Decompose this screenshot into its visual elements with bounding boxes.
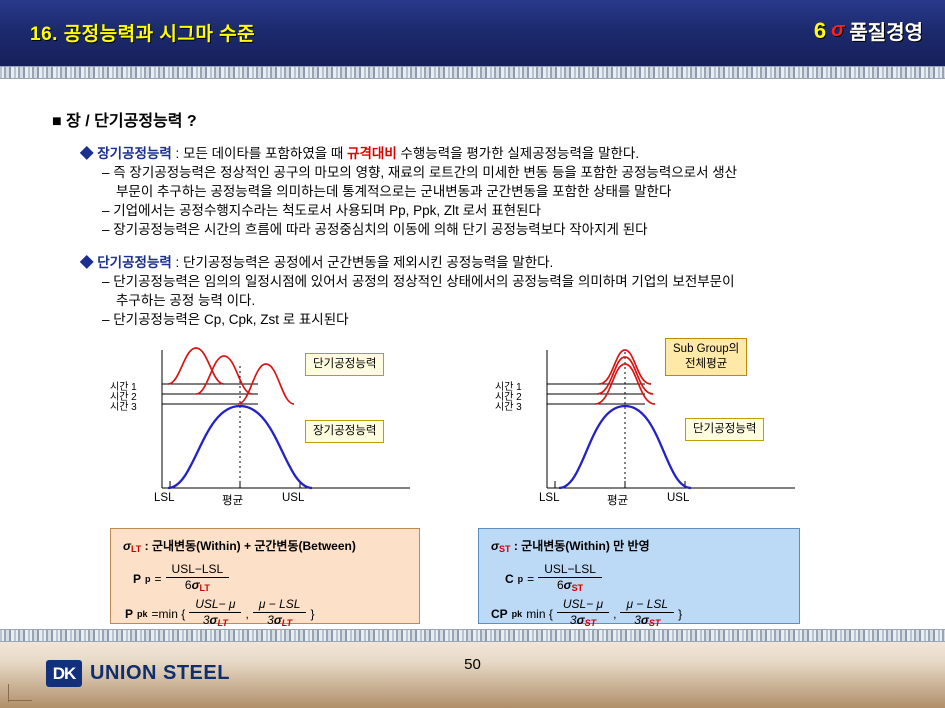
cp-fraction: USL−LSL 6σST (538, 562, 602, 596)
long-term-line-1: – 즉 장기공정능력은 정상적인 공구의 마모의 영향, 재료의 로트간의 미세… (102, 163, 737, 182)
cpk-min-open: min { (526, 607, 553, 621)
footer-rule-v (8, 684, 9, 702)
formula-ppk: Ppk =min { USL− μ 3σLT , μ − LSL 3σLT } (125, 597, 314, 631)
formula-box-short-term: σST : 군내변동(Within) 만 반영 Cp = USL−LSL 6σS… (478, 528, 800, 624)
formula-right-title: σST : 군내변동(Within) 만 반영 (491, 537, 650, 554)
ppk-den1-sigma-icon: σ (210, 613, 218, 627)
pp-numerator: USL−LSL (166, 562, 230, 578)
long-term-lead-b: 수행능력을 평가한 실제공정능력을 말한다. (397, 146, 639, 161)
short-term-line-3: – 단기공정능력은 Cp, Cpk, Zst 로 표시된다 (102, 310, 735, 329)
formula-pp: Pp = USL−LSL 6σLT (133, 562, 229, 596)
callout-subgroup-mean: Sub Group의 전체평균 (665, 338, 747, 376)
formula-cp: Cp = USL−LSL 6σST (505, 562, 602, 596)
page-number: 50 (0, 656, 945, 673)
ppk-den2-subscript: LT (282, 618, 292, 628)
cpk-den2-sigma-icon: σ (641, 613, 649, 627)
cp-numerator: USL−LSL (538, 562, 602, 578)
pp-equals: = (155, 572, 162, 586)
page-title: 16. 공정능력과 시그마 수준 (30, 19, 255, 46)
formula-cpk: CPpk min { USL− μ 3σST , μ − LSL 3σST } (491, 597, 682, 631)
cpk-den1-subscript: ST (585, 618, 597, 628)
sigma-lt-icon: σ (123, 539, 131, 553)
bullet-block-long-term: ◆ 장기공정능력 : 모든 데이타를 포함하였을 때 규격대비 수행능력을 평가… (80, 144, 737, 239)
cp-denominator: 6σST (538, 578, 602, 596)
cpk-comma: , (613, 607, 616, 621)
bullet-block-short-term: ◆ 단기공정능력 : 단기공정능력은 공정에서 군간변동을 제외시킨 공정능력을… (80, 253, 735, 329)
chart-right-mean: 평균 (607, 492, 628, 508)
cp-label: C (505, 572, 514, 586)
short-term-lead: : 단기공정능력은 공정에서 군간변동을 제외시킨 공정능력을 말한다. (172, 255, 554, 270)
cp-equals: = (527, 572, 534, 586)
ppk-den2-coef: 3 (267, 613, 274, 627)
cp-den-subscript: ST (572, 583, 584, 593)
pp-den-coef: 6 (185, 578, 192, 592)
sigma-lt-subscript: LT (131, 544, 141, 554)
sigma-st-icon: σ (491, 539, 499, 553)
long-term-line-3: – 기업에서는 공정수행지수라는 척도로서 사용되며 Pp, Ppk, Zlt … (102, 201, 737, 220)
bullet-marker-long-term: ◆ 장기공정능력 (80, 146, 172, 161)
ppk-min-open: =min { (152, 607, 186, 621)
cpk-label: CP (491, 607, 508, 621)
pp-subscript: p (145, 574, 151, 584)
chart-left-time-3: 시간 3 (110, 398, 137, 413)
ppk-den1-subscript: LT (218, 618, 228, 628)
formula-box-long-term: σLT : 군내변동(Within) + 군간변동(Between) Pp = … (110, 528, 420, 624)
cpk-fraction-2: μ − LSL 3σST (620, 597, 674, 631)
formula-left-title-text: : 군내변동(Within) + 군간변동(Between) (141, 539, 356, 553)
ppk-min-close: } (310, 607, 314, 621)
pp-denominator: 6σLT (166, 578, 230, 596)
ppk-label: P (125, 607, 133, 621)
bullet-marker-short-term: ◆ 단기공정능력 (80, 255, 172, 270)
sigma-icon: σ (831, 19, 844, 42)
ppk-comma: , (245, 607, 248, 621)
sigma-st-subscript: ST (499, 544, 511, 554)
pp-label: P (133, 572, 141, 586)
cpk-den1-coef: 3 (570, 613, 577, 627)
short-term-line-2: 추구하는 공정 능력 이다. (116, 291, 735, 310)
formula-right-title-text: : 군내변동(Within) 만 반영 (510, 539, 649, 553)
chart-left-curves (110, 340, 440, 510)
cpk-num-2: μ − LSL (620, 597, 674, 613)
footer-rule-h (8, 700, 32, 701)
cpk-subscript: pk (512, 609, 523, 619)
long-term-line-2: 부문이 추구하는 공정능력을 의미하는데 통계적으로는 군내변동과 군간변동을 … (116, 182, 737, 201)
cpk-den2-coef: 3 (634, 613, 641, 627)
pp-den-sigma-icon: σ (192, 578, 200, 592)
ppk-den1-coef: 3 (203, 613, 210, 627)
brand-six: 6 (814, 18, 826, 44)
callout-short-term-right: 단기공정능력 (685, 418, 764, 441)
chart-right-lsl: LSL (539, 492, 559, 504)
cpk-den1-sigma-icon: σ (577, 613, 585, 627)
divider-bottom (0, 629, 945, 642)
ppk-num-1: USL− μ (189, 597, 241, 613)
pp-den-subscript: LT (200, 583, 210, 593)
chart-left-lsl: LSL (154, 492, 174, 504)
brand-text: 품질경영 (849, 16, 923, 45)
cpk-fraction-1: USL− μ 3σST (557, 597, 609, 631)
chart-right-usl: USL (667, 492, 689, 504)
long-term-highlight: 규격대비 (347, 146, 397, 161)
chart-left-mean: 평균 (222, 492, 243, 508)
cpk-num-1: USL− μ (557, 597, 609, 613)
cpk-den2-subscript: ST (649, 618, 661, 628)
callout-subgroup-line1: Sub Group의 (673, 343, 739, 355)
pp-fraction: USL−LSL 6σLT (166, 562, 230, 596)
ppk-den2-sigma-icon: σ (274, 613, 282, 627)
chart-left-usl: USL (282, 492, 304, 504)
section-heading: ■ 장 / 단기공정능력 ? (52, 107, 197, 131)
short-term-line-1: – 단기공정능력은 임의의 일정시점에 있어서 공정의 정상적인 상태에서의 공… (102, 272, 735, 291)
callout-short-term-left: 단기공정능력 (305, 353, 384, 376)
chart-right-curves (495, 340, 825, 510)
cpk-min-close: } (678, 607, 682, 621)
callout-long-term-left: 장기공정능력 (305, 420, 384, 443)
long-term-lead-a: : 모든 데이타를 포함하였을 때 (172, 146, 347, 161)
ppk-num-2: μ − LSL (253, 597, 307, 613)
ppk-subscript: pk (137, 609, 148, 619)
chart-short-term: 시간 1 시간 2 시간 3 LSL 평균 USL Sub Group의 전체평… (495, 340, 825, 510)
ppk-fraction-2: μ − LSL 3σLT (253, 597, 307, 631)
long-term-line-4: – 장기공정능력은 시간의 흐름에 따라 공정중심치의 이동에 의해 단기 공정… (102, 220, 737, 239)
callout-subgroup-line2: 전체평균 (685, 358, 727, 370)
ppk-fraction-1: USL− μ 3σLT (189, 597, 241, 631)
slide-header: 16. 공정능력과 시그마 수준 6 σ 품질경영 (0, 0, 945, 66)
brand-badge: 6 σ 품질경영 (814, 16, 923, 45)
cp-den-sigma-icon: σ (564, 578, 572, 592)
chart-right-time-3: 시간 3 (495, 398, 522, 413)
divider-top (0, 66, 945, 79)
chart-long-term: 시간 1 시간 2 시간 3 LSL 평균 USL 단기공정능력 장기공정능력 (110, 340, 440, 510)
cp-den-coef: 6 (557, 578, 564, 592)
formula-left-title: σLT : 군내변동(Within) + 군간변동(Between) (123, 537, 356, 554)
cp-subscript: p (518, 574, 524, 584)
